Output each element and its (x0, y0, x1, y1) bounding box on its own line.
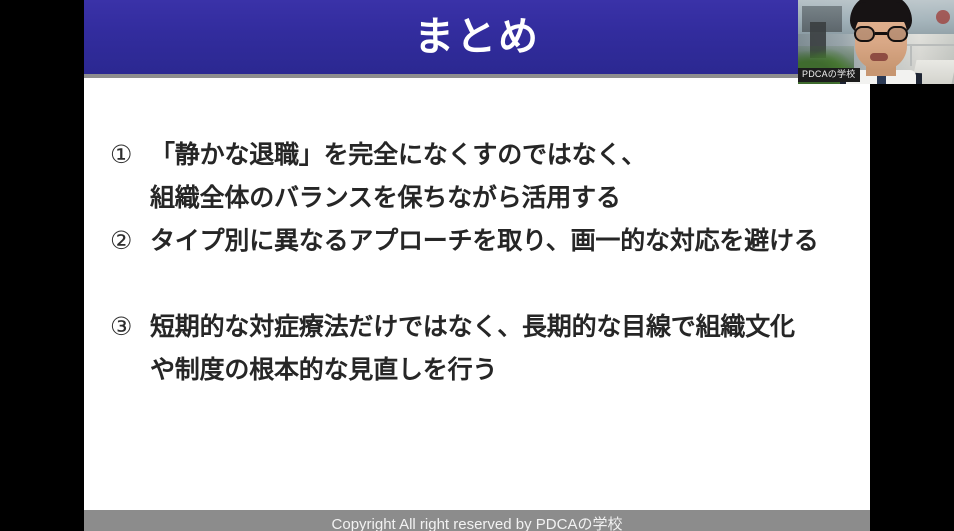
letterbox-bar-right (870, 84, 954, 531)
glasses-lens-left (854, 26, 875, 42)
bullet-marker-2: ② (110, 220, 150, 263)
presenter-mouth (870, 53, 888, 61)
webcam-video-overlay[interactable]: PDCAの学校 (798, 0, 954, 84)
glasses-bridge (875, 32, 887, 35)
screen-recording-frame: まとめ ① 「静かな退職」を完全になくすのではなく、 組織全体のバランスを保ちな… (0, 0, 954, 531)
bullet-3-line-1: 短期的な対症療法だけではなく、長期的な目線で組織文化 (150, 306, 866, 349)
glasses-lens-right (887, 26, 908, 42)
bullet-1-line-1: 「静かな退職」を完全になくすのではなく、 (150, 134, 866, 177)
bullet-text-3: 短期的な対症療法だけではなく、長期的な目線で組織文化 や制度の根本的な見直しを行… (150, 306, 866, 392)
bullet-2-line-1: タイプ別に異なるアプローチを取り、画一的な対応を避ける (150, 220, 866, 263)
presenter-tie (877, 76, 886, 84)
bullet-item-3: ③ 短期的な対症療法だけではなく、長期的な目線で組織文化 や制度の根本的な見直し… (110, 306, 866, 392)
letterbox-bar-left (0, 0, 84, 531)
bullet-marker-1: ① (110, 134, 150, 177)
bullet-marker-3: ③ (110, 306, 150, 349)
webcam-channel-label: PDCAの学校 (798, 68, 860, 82)
slide-header-banner: まとめ (84, 0, 870, 74)
bullet-text-1: 「静かな退職」を完全になくすのではなく、 組織全体のバランスを保ちながら活用する (150, 134, 866, 220)
bullet-text-2: タイプ別に異なるアプローチを取り、画一的な対応を避ける (150, 220, 866, 263)
bullet-item-1: ① 「静かな退職」を完全になくすのではなく、 組織全体のバランスを保ちながら活用… (110, 134, 866, 220)
bullet-item-2: ② タイプ別に異なるアプローチを取り、画一的な対応を避ける (110, 220, 866, 263)
copyright-text: Copyright All right reserved by PDCAの学校 (332, 514, 623, 531)
bullet-1-line-2: 組織全体のバランスを保ちながら活用する (150, 177, 866, 220)
presenter-fringe (852, 2, 910, 22)
bullet-3-line-2: や制度の根本的な見直しを行う (150, 349, 866, 392)
slide-title: まとめ (414, 17, 540, 57)
presentation-slide: まとめ ① 「静かな退職」を完全になくすのではなく、 組織全体のバランスを保ちな… (84, 0, 870, 531)
glasses-icon (854, 26, 908, 42)
slide-body: ① 「静かな退職」を完全になくすのではなく、 組織全体のバランスを保ちながら活用… (84, 78, 870, 510)
slide-footer-band: Copyright All right reserved by PDCAの学校 (84, 510, 870, 531)
webcam-red-sign (936, 10, 950, 24)
